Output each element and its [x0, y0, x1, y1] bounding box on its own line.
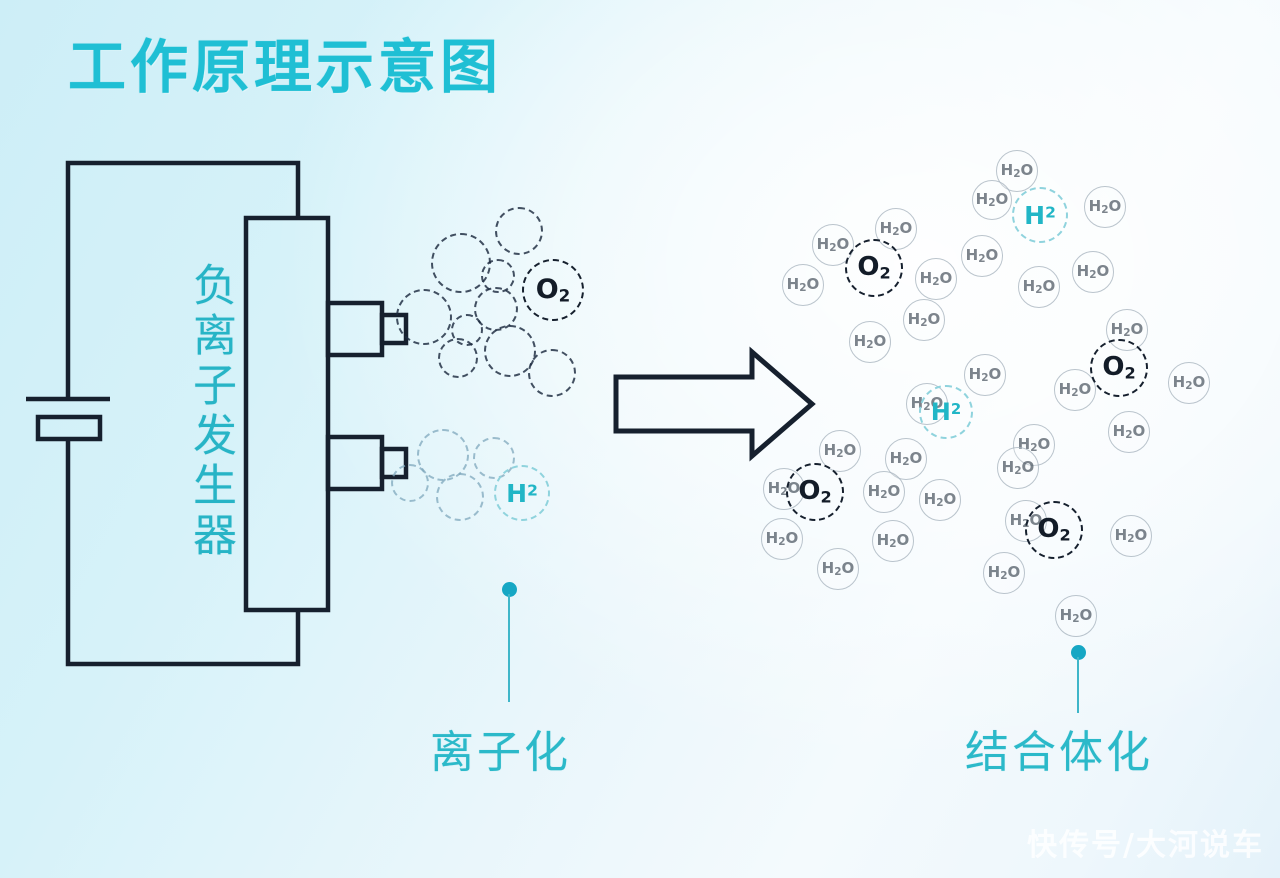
- h2-label: H2: [931, 400, 961, 424]
- h2o-label: H2O: [890, 451, 923, 468]
- battery-short-plate: [38, 417, 100, 439]
- ionization-callout-label: 离子化: [430, 716, 571, 780]
- h2o-molecule: H2O: [1108, 411, 1150, 453]
- diagram-canvas: 工作原理示意图 负离子发生器 O2H2 H2OH2OH2OH2OH2OH2OH2…: [0, 0, 1280, 878]
- h2o-label: H2O: [822, 561, 855, 578]
- h2o-label: H2O: [817, 237, 850, 254]
- h2o-molecule: H2O: [1072, 251, 1114, 293]
- o2-molecule: O2: [845, 239, 903, 297]
- watermark: 快传号/大河说车: [1027, 820, 1264, 864]
- h2o-label: H2O: [1111, 322, 1144, 339]
- ion-bubble: [438, 338, 478, 378]
- h2o-label: H2O: [908, 312, 941, 329]
- nozzle-upper-base: [328, 303, 382, 355]
- h2o-molecule: H2O: [997, 447, 1039, 489]
- h2o-label: H2O: [1115, 528, 1148, 545]
- h2o-label: H2O: [976, 192, 1009, 209]
- h2o-label: H2O: [868, 484, 901, 501]
- h2o-molecule: H2O: [1055, 595, 1097, 637]
- h2o-label: H2O: [1173, 375, 1206, 392]
- h2o-molecule: H2O: [1054, 369, 1096, 411]
- h2o-molecule: H2O: [872, 520, 914, 562]
- ion-bubble-faint: [391, 464, 429, 502]
- o2-label: O2: [798, 478, 831, 506]
- h2o-molecule: H2O: [964, 354, 1006, 396]
- h2o-molecule: H2O: [1110, 515, 1152, 557]
- o2-molecule: O2: [1090, 339, 1148, 397]
- h2o-molecule: H2O: [863, 471, 905, 513]
- h2o-label: H2O: [1002, 460, 1035, 477]
- h2o-label: H2O: [824, 443, 857, 460]
- h2o-label: H2O: [877, 533, 910, 550]
- h2o-molecule: H2O: [782, 264, 824, 306]
- h2-molecule: H2: [1012, 187, 1068, 243]
- h2o-label: H2O: [988, 565, 1021, 582]
- h2o-molecule: H2O: [961, 235, 1003, 277]
- h2o-molecule: H2O: [1084, 186, 1126, 228]
- ion-bubble-faint: [436, 473, 484, 521]
- h2o-molecule: H2O: [1168, 362, 1210, 404]
- h2o-label: H2O: [1077, 264, 1110, 281]
- o2-label: O2: [1037, 516, 1070, 544]
- page-title: 工作原理示意图: [68, 20, 502, 104]
- h2o-label: H2O: [1089, 199, 1122, 216]
- o2-molecule: O2: [1025, 501, 1083, 559]
- ionization-pin-stem: [508, 594, 510, 702]
- o2-molecule: O2: [786, 463, 844, 521]
- nozzle-lower-base: [328, 437, 382, 489]
- h2o-label: H2O: [1060, 608, 1093, 625]
- o2-molecule: O2: [522, 259, 584, 321]
- h2-molecule: H2: [494, 465, 550, 521]
- h2o-molecule: H2O: [849, 321, 891, 363]
- h2o-label: H2O: [1059, 382, 1092, 399]
- h2o-molecule: H2O: [1018, 266, 1060, 308]
- transition-arrow: [616, 352, 812, 456]
- h2o-molecule: H2O: [903, 299, 945, 341]
- combination-callout-label: 结合体化: [965, 716, 1153, 780]
- h2o-label: H2O: [854, 334, 887, 351]
- h2o-molecule: H2O: [919, 479, 961, 521]
- h2o-molecule: H2O: [983, 552, 1025, 594]
- h2o-label: H2O: [1023, 279, 1056, 296]
- h2o-molecule: H2O: [915, 258, 957, 300]
- h2o-label: H2O: [766, 531, 799, 548]
- h2o-label: H2O: [966, 248, 999, 265]
- combination-pin-stem: [1077, 657, 1079, 713]
- h2o-label: H2O: [924, 492, 957, 509]
- ion-bubble: [495, 207, 543, 255]
- h2o-label: H2O: [1113, 424, 1146, 441]
- generator-body: [246, 218, 328, 610]
- h2o-molecule: H2O: [761, 518, 803, 560]
- h2-label: H2: [1024, 203, 1056, 228]
- h2o-label: H2O: [920, 271, 953, 288]
- h2o-molecule: H2O: [972, 180, 1012, 220]
- h2o-label: H2O: [1001, 163, 1034, 180]
- h2o-molecule: H2O: [817, 548, 859, 590]
- h2o-label: H2O: [787, 277, 820, 294]
- h2o-label: H2O: [880, 221, 913, 238]
- o2-label: O2: [857, 254, 890, 282]
- ion-bubble: [396, 289, 452, 345]
- o2-label: O2: [1102, 354, 1135, 382]
- h2-molecule: H2: [919, 385, 973, 439]
- o2-label: O2: [536, 276, 571, 304]
- generator-label: 负离子发生器: [178, 262, 242, 562]
- h2-label: H2: [506, 481, 538, 506]
- ion-bubble: [528, 349, 576, 397]
- h2o-label: H2O: [969, 367, 1002, 384]
